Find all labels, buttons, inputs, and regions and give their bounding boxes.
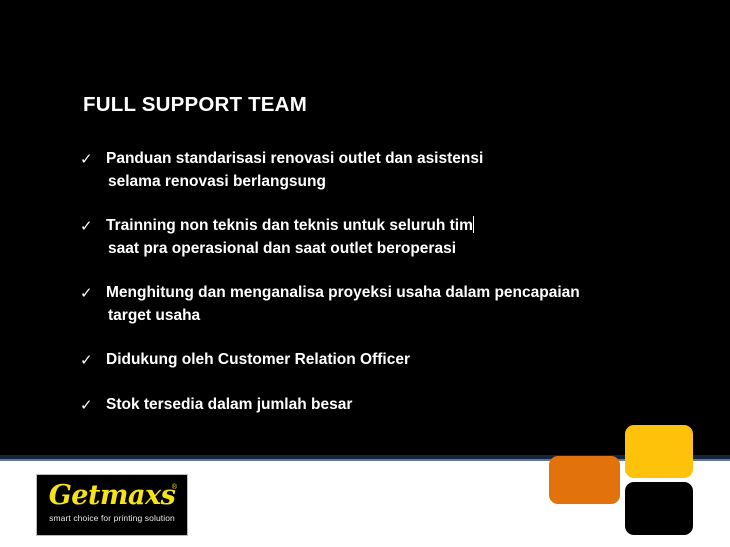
list-item-line-editing[interactable]: Trainning non teknis dan teknis untuk se… bbox=[106, 215, 680, 238]
checkmark-icon: ✓ bbox=[80, 349, 93, 372]
decor-square-orange bbox=[549, 456, 620, 504]
registered-trademark-icon: ® bbox=[172, 484, 177, 491]
list-item-line: Panduan standarisasi renovasi outlet dan… bbox=[106, 148, 680, 171]
list-item[interactable]: ✓ Trainning non teknis dan teknis untuk … bbox=[80, 215, 680, 260]
decor-square-black bbox=[625, 482, 693, 535]
list-item-line: target usaha bbox=[106, 305, 680, 328]
decor-square-yellow bbox=[625, 425, 693, 478]
list-item-line: Didukung oleh Customer Relation Officer bbox=[106, 349, 680, 372]
checkmark-icon: ✓ bbox=[80, 215, 93, 238]
company-logo: Getmaxs ® smart choice for printing solu… bbox=[36, 474, 188, 536]
checkmark-icon: ✓ bbox=[80, 394, 93, 417]
footer-divider-highlight bbox=[0, 459, 730, 461]
presentation-slide: FULL SUPPORT TEAM ✓ Panduan standarisasi… bbox=[0, 0, 730, 547]
checkmark-icon: ✓ bbox=[80, 282, 93, 305]
list-item-line: Stok tersedia dalam jumlah besar bbox=[106, 394, 680, 417]
page-title: FULL SUPPORT TEAM bbox=[83, 93, 307, 117]
list-item[interactable]: ✓ Menghitung dan menganalisa proyeksi us… bbox=[80, 282, 680, 327]
logo-wordmark: Getmaxs bbox=[49, 481, 176, 511]
list-item[interactable]: ✓ Didukung oleh Customer Relation Office… bbox=[80, 349, 680, 372]
text-cursor-caret bbox=[473, 216, 474, 233]
bullet-list: ✓ Panduan standarisasi renovasi outlet d… bbox=[80, 148, 680, 416]
list-item-line: selama renovasi berlangsung bbox=[106, 171, 680, 194]
list-item-line: saat pra operasional dan saat outlet ber… bbox=[106, 238, 680, 261]
list-item[interactable]: ✓ Panduan standarisasi renovasi outlet d… bbox=[80, 148, 680, 193]
checkmark-icon: ✓ bbox=[80, 148, 93, 171]
list-item-line: Menghitung dan menganalisa proyeksi usah… bbox=[106, 282, 680, 305]
list-item-line-text: Trainning non teknis dan teknis untuk se… bbox=[106, 217, 473, 234]
list-item[interactable]: ✓ Stok tersedia dalam jumlah besar bbox=[80, 394, 680, 417]
logo-tagline: smart choice for printing solution bbox=[49, 513, 175, 524]
